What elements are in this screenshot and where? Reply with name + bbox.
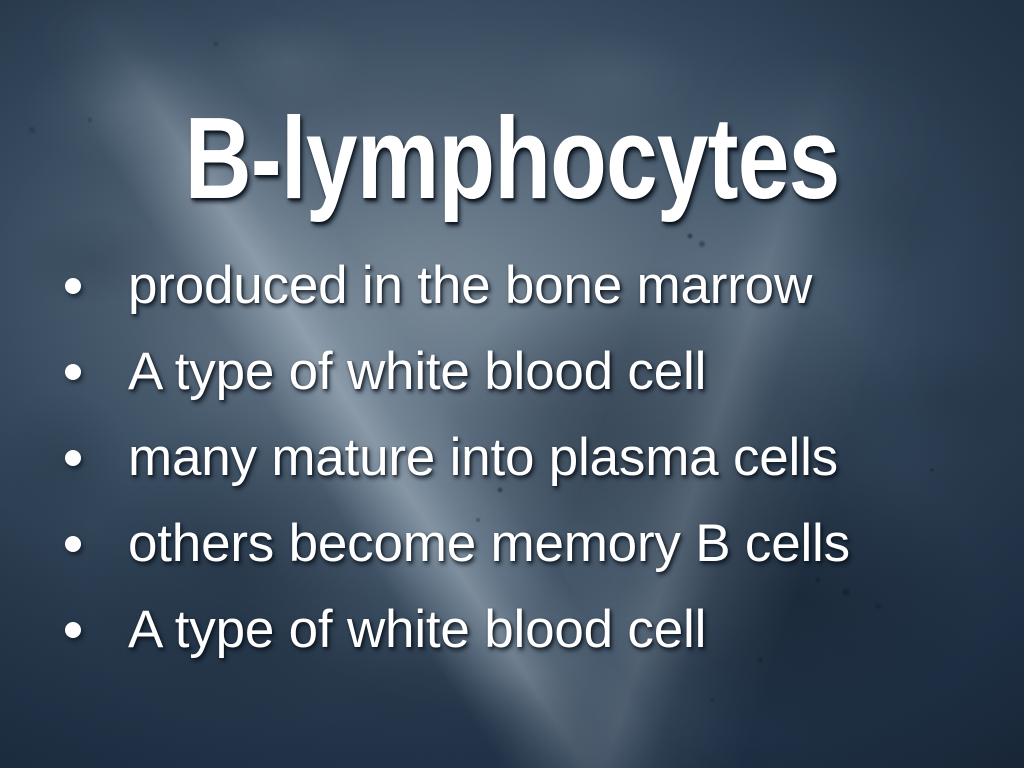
list-item: A type of white blood cell [58, 329, 998, 415]
bullet-dot-icon [65, 278, 81, 294]
bullet-item-label: many mature into plasma cells [128, 430, 838, 485]
slide-content: B-lymphocytes produced in the bone marro… [0, 0, 1024, 768]
bullet-dot-icon [65, 450, 81, 466]
bullet-dot-icon [65, 622, 81, 638]
bullet-dot-icon [65, 364, 81, 380]
presentation-slide: B-lymphocytes produced in the bone marro… [0, 0, 1024, 768]
bullet-item-label: others become memory B cells [128, 516, 850, 571]
bullet-item-label: A type of white blood cell [128, 344, 706, 399]
list-item: A type of white blood cell [58, 587, 998, 673]
bullet-list: produced in the bone marrow A type of wh… [58, 243, 998, 673]
bullet-item-label: A type of white blood cell [128, 602, 706, 657]
slide-title: B-lymphocytes [102, 100, 921, 216]
list-item: produced in the bone marrow [58, 243, 998, 329]
bullet-dot-icon [65, 536, 81, 552]
list-item: many mature into plasma cells [58, 415, 998, 501]
list-item: others become memory B cells [58, 501, 998, 587]
bullet-item-label: produced in the bone marrow [128, 258, 812, 313]
